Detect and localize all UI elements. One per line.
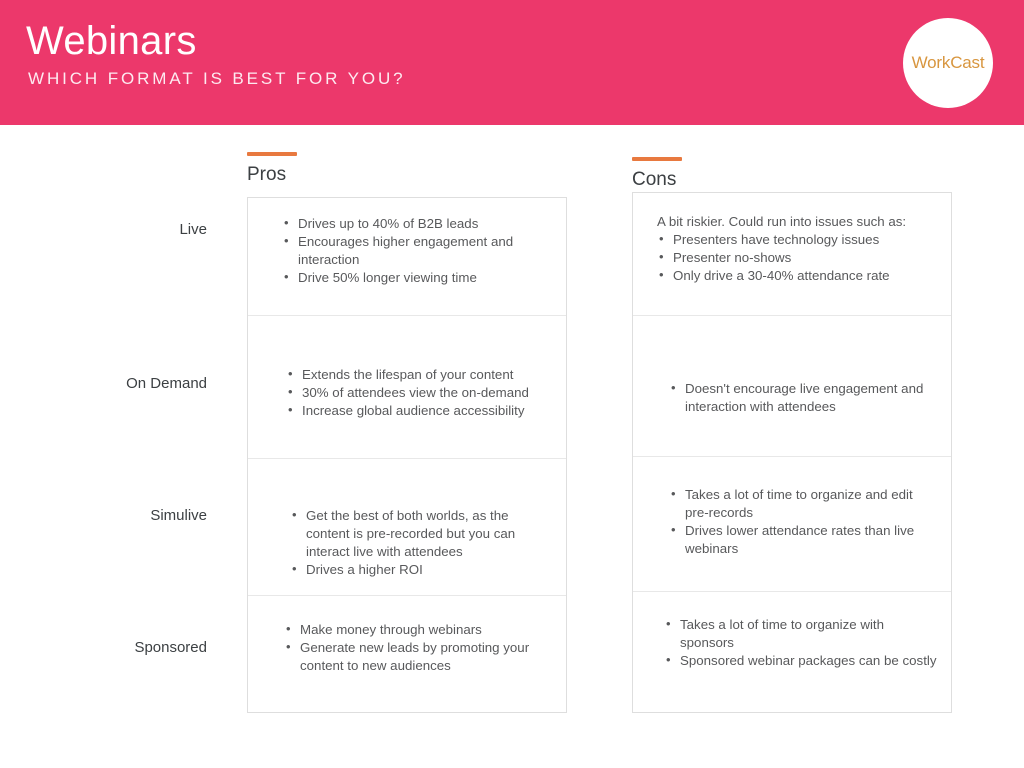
row-label-simulive: Simulive (17, 506, 207, 526)
pros-sponsored-list-item: Generate new leads by promoting your con… (284, 639, 554, 675)
workcast-logo-text: WorkCast (912, 53, 985, 73)
cons-table: A bit riskier. Could run into issues suc… (632, 192, 952, 713)
cons-cell-on-demand: Doesn't encourage live engagement and in… (633, 316, 951, 457)
cons-live-list: Presenters have technology issuesPresent… (657, 231, 939, 285)
row-label-on-demand: On Demand (17, 374, 207, 394)
row-label-sponsored: Sponsored (17, 638, 207, 658)
pros-live-list-item: Drives up to 40% of B2B leads (282, 215, 554, 233)
pros-table: Drives up to 40% of B2B leadsEncourages … (247, 197, 567, 713)
pros-cell-simulive: Get the best of both worlds, as the cont… (248, 459, 566, 596)
pros-on-demand-list-item: 30% of attendees view the on-demand (286, 384, 554, 402)
pros-cell-on-demand: Extends the lifespan of your content30% … (248, 316, 566, 459)
pros-column-title: Pros (247, 163, 297, 187)
pros-on-demand-list: Extends the lifespan of your content30% … (286, 366, 554, 420)
pros-cell-sponsored: Make money through webinarsGenerate new … (248, 596, 566, 712)
pros-on-demand-list-item: Increase global audience accessibility (286, 402, 554, 420)
workcast-logo: WorkCast (903, 18, 993, 108)
cons-sponsored-list-item: Takes a lot of time to organize with spo… (664, 616, 939, 652)
pros-accent-bar (247, 152, 297, 156)
cons-simulive-list: Takes a lot of time to organize and edit… (669, 486, 939, 558)
cons-live-list-item: Presenter no-shows (657, 249, 939, 267)
pros-column-heading: Pros (247, 152, 297, 187)
pros-on-demand-list-item: Extends the lifespan of your content (286, 366, 554, 384)
cons-on-demand-list-item: Doesn't encourage live engagement and in… (669, 380, 939, 416)
cons-on-demand-list: Doesn't encourage live engagement and in… (669, 380, 939, 416)
pros-simulive-list: Get the best of both worlds, as the cont… (290, 507, 554, 579)
pros-cell-live: Drives up to 40% of B2B leadsEncourages … (248, 198, 566, 316)
row-label-live: Live (17, 220, 207, 240)
pros-simulive-list-item: Drives a higher ROI (290, 561, 554, 579)
pros-live-list-item: Drive 50% longer viewing time (282, 269, 554, 287)
cons-simulive-list-item: Drives lower attendance rates than live … (669, 522, 939, 558)
cons-sponsored-list: Takes a lot of time to organize with spo… (664, 616, 939, 670)
page-title: Webinars (26, 17, 197, 65)
cons-column-title: Cons (632, 168, 682, 192)
cons-live-lead: A bit riskier. Could run into issues suc… (657, 213, 939, 231)
cons-simulive-list-item: Takes a lot of time to organize and edit… (669, 486, 939, 522)
pros-live-list: Drives up to 40% of B2B leadsEncourages … (282, 215, 554, 287)
pros-simulive-list-item: Get the best of both worlds, as the cont… (290, 507, 554, 561)
pros-live-list-item: Encourages higher engagement and interac… (282, 233, 554, 269)
cons-cell-sponsored: Takes a lot of time to organize with spo… (633, 592, 951, 712)
cons-cell-live: A bit riskier. Could run into issues suc… (633, 193, 951, 316)
cons-cell-simulive: Takes a lot of time to organize and edit… (633, 457, 951, 592)
cons-column-heading: Cons (632, 157, 682, 192)
page-header-banner: Webinars WHICH FORMAT IS BEST FOR YOU? W… (0, 0, 1024, 125)
cons-sponsored-list-item: Sponsored webinar packages can be costly (664, 652, 939, 670)
pros-sponsored-list-item: Make money through webinars (284, 621, 554, 639)
cons-accent-bar (632, 157, 682, 161)
cons-live-list-item: Only drive a 30-40% attendance rate (657, 267, 939, 285)
cons-live-list-item: Presenters have technology issues (657, 231, 939, 249)
pros-sponsored-list: Make money through webinarsGenerate new … (284, 621, 554, 675)
page-subtitle: WHICH FORMAT IS BEST FOR YOU? (28, 68, 406, 90)
